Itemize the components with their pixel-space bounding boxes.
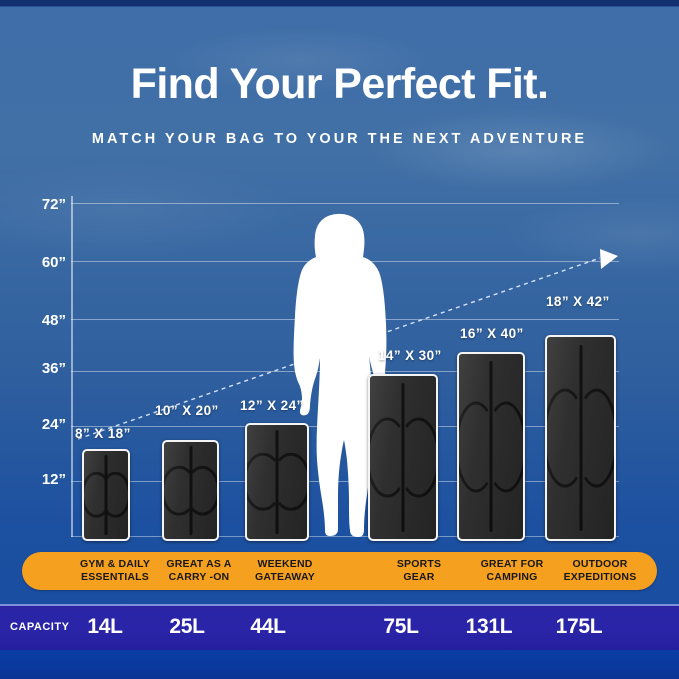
gridline-72 xyxy=(71,203,619,204)
use-case-6-line2: EXPEDITIONS xyxy=(564,571,637,583)
y-tick-48: 48” xyxy=(20,312,66,329)
y-tick-12: 12” xyxy=(20,471,66,488)
capacity-5: 131L xyxy=(450,604,528,650)
use-case-4-line1: SPORTS xyxy=(397,558,441,570)
bag-sheen xyxy=(370,376,436,539)
capacity-label: CAPACITY xyxy=(10,604,69,650)
bag-dimension-4: 14” X 30” xyxy=(378,348,442,363)
y-tick-24: 24” xyxy=(20,416,66,433)
use-case-3-line2: GATEAWAY xyxy=(255,571,315,583)
bag-dimension-1: 8” X 18” xyxy=(75,426,131,441)
page-subtitle: MATCH YOUR BAG TO YOUR THE NEXT ADVENTUR… xyxy=(0,131,679,147)
y-tick-36: 36” xyxy=(20,360,66,377)
bag-sheen xyxy=(459,354,523,539)
use-case-5-line2: CAMPING xyxy=(487,571,538,583)
bag-sheen xyxy=(547,337,614,539)
use-case-2-line2: CARRY -ON xyxy=(169,571,230,583)
bag-2[interactable] xyxy=(162,440,219,541)
capacity-1: 14L xyxy=(70,604,140,650)
bag-dimension-6: 18” X 42” xyxy=(546,294,610,309)
bag-sheen xyxy=(84,451,128,539)
bottom-fill xyxy=(0,650,679,679)
use-case-6: OUTDOOR EXPEDITIONS xyxy=(540,552,660,590)
bag-3[interactable] xyxy=(245,423,309,541)
bag-sheen xyxy=(247,425,307,539)
bag-dimension-5: 16” X 40” xyxy=(460,326,524,341)
use-case-3-line1: WEEKEND xyxy=(257,558,312,570)
use-case-4-line2: GEAR xyxy=(403,571,434,583)
capacity-6: 175L xyxy=(538,604,620,650)
page-title: Find Your Perfect Fit. xyxy=(0,63,679,106)
y-tick-72: 72” xyxy=(20,196,66,213)
capacity-2: 25L xyxy=(152,604,222,650)
use-case-band: GYM & DAILY ESSENTIALS GREAT AS A CARRY … xyxy=(22,552,657,590)
y-tick-60: 60” xyxy=(20,254,66,271)
bag-dimension-2: 10” X 20” xyxy=(155,403,219,418)
bag-1[interactable] xyxy=(82,449,130,541)
bag-5[interactable] xyxy=(457,352,525,541)
bag-sheen xyxy=(164,442,217,539)
use-case-3: WEEKEND GATEAWAY xyxy=(222,552,348,590)
use-case-6-line1: OUTDOOR xyxy=(572,558,627,570)
use-case-5-line1: GREAT FOR xyxy=(481,558,544,570)
bag-dimension-3: 12” X 24” xyxy=(240,398,304,413)
capacity-4: 75L xyxy=(365,604,437,650)
infographic-canvas: Find Your Perfect Fit. MATCH YOUR BAG TO… xyxy=(0,0,679,679)
bag-6[interactable] xyxy=(545,335,616,541)
capacity-3: 44L xyxy=(232,604,304,650)
bag-4[interactable] xyxy=(368,374,438,541)
top-edge-strip xyxy=(0,0,679,6)
